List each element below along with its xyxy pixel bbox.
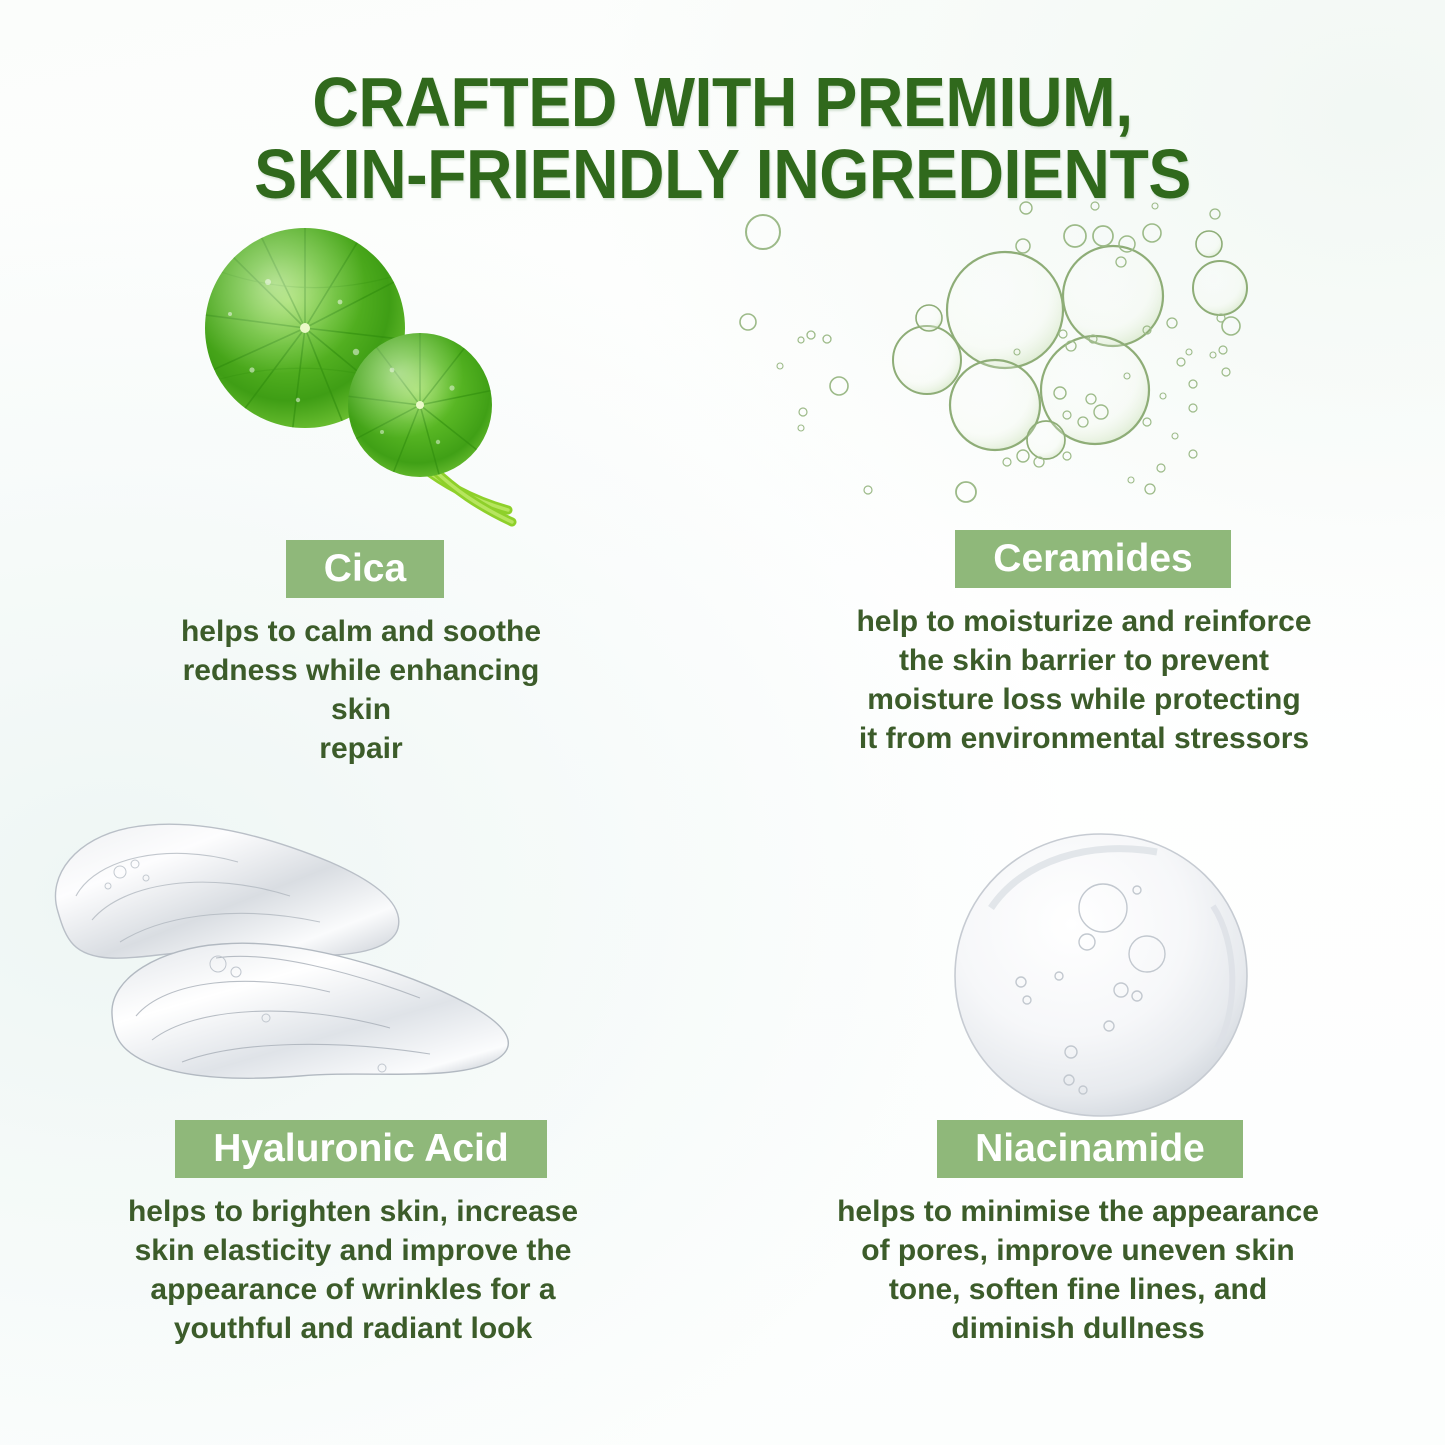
ingredient-name-cica: Cica xyxy=(286,540,444,598)
badge-wrap-niacinamide: Niacinamide xyxy=(723,1120,1445,1178)
badge-wrap-cica: Cica xyxy=(0,540,722,598)
badge-wrap-hyaluronic-acid: Hyaluronic Acid xyxy=(0,1120,722,1178)
ingredient-card-ceramides: Ceramides help to moisturize and reinfor… xyxy=(723,200,1445,758)
ingredient-description-ceramides: help to moisturize and reinforce the ski… xyxy=(844,602,1324,758)
bubble-cluster-image xyxy=(723,200,1445,530)
ingredient-description-niacinamide: helps to minimise the appearance of pore… xyxy=(833,1192,1323,1348)
ingredient-description-hyaluronic-acid: helps to brighten skin, increase skin el… xyxy=(118,1192,588,1348)
ingredient-card-niacinamide: Niacinamide helps to minimise the appear… xyxy=(723,800,1445,1348)
centella-leaves-image xyxy=(0,210,722,540)
gel-swatch-image xyxy=(0,800,722,1120)
ingredient-card-cica: Cica helps to calm and soothe redness wh… xyxy=(0,210,722,768)
ingredient-name-hyaluronic-acid: Hyaluronic Acid xyxy=(175,1120,546,1178)
ingredient-description-cica: helps to calm and soothe redness while e… xyxy=(151,612,571,768)
ingredient-card-hyaluronic-acid: Hyaluronic Acid helps to brighten skin, … xyxy=(0,800,722,1348)
ingredients-infographic: CRAFTED WITH PREMIUM, SKIN-FRIENDLY INGR… xyxy=(0,0,1445,1445)
ingredient-name-niacinamide: Niacinamide xyxy=(937,1120,1243,1178)
page-title: CRAFTED WITH PREMIUM, SKIN-FRIENDLY INGR… xyxy=(58,66,1387,210)
gel-droplet-image xyxy=(723,800,1445,1120)
